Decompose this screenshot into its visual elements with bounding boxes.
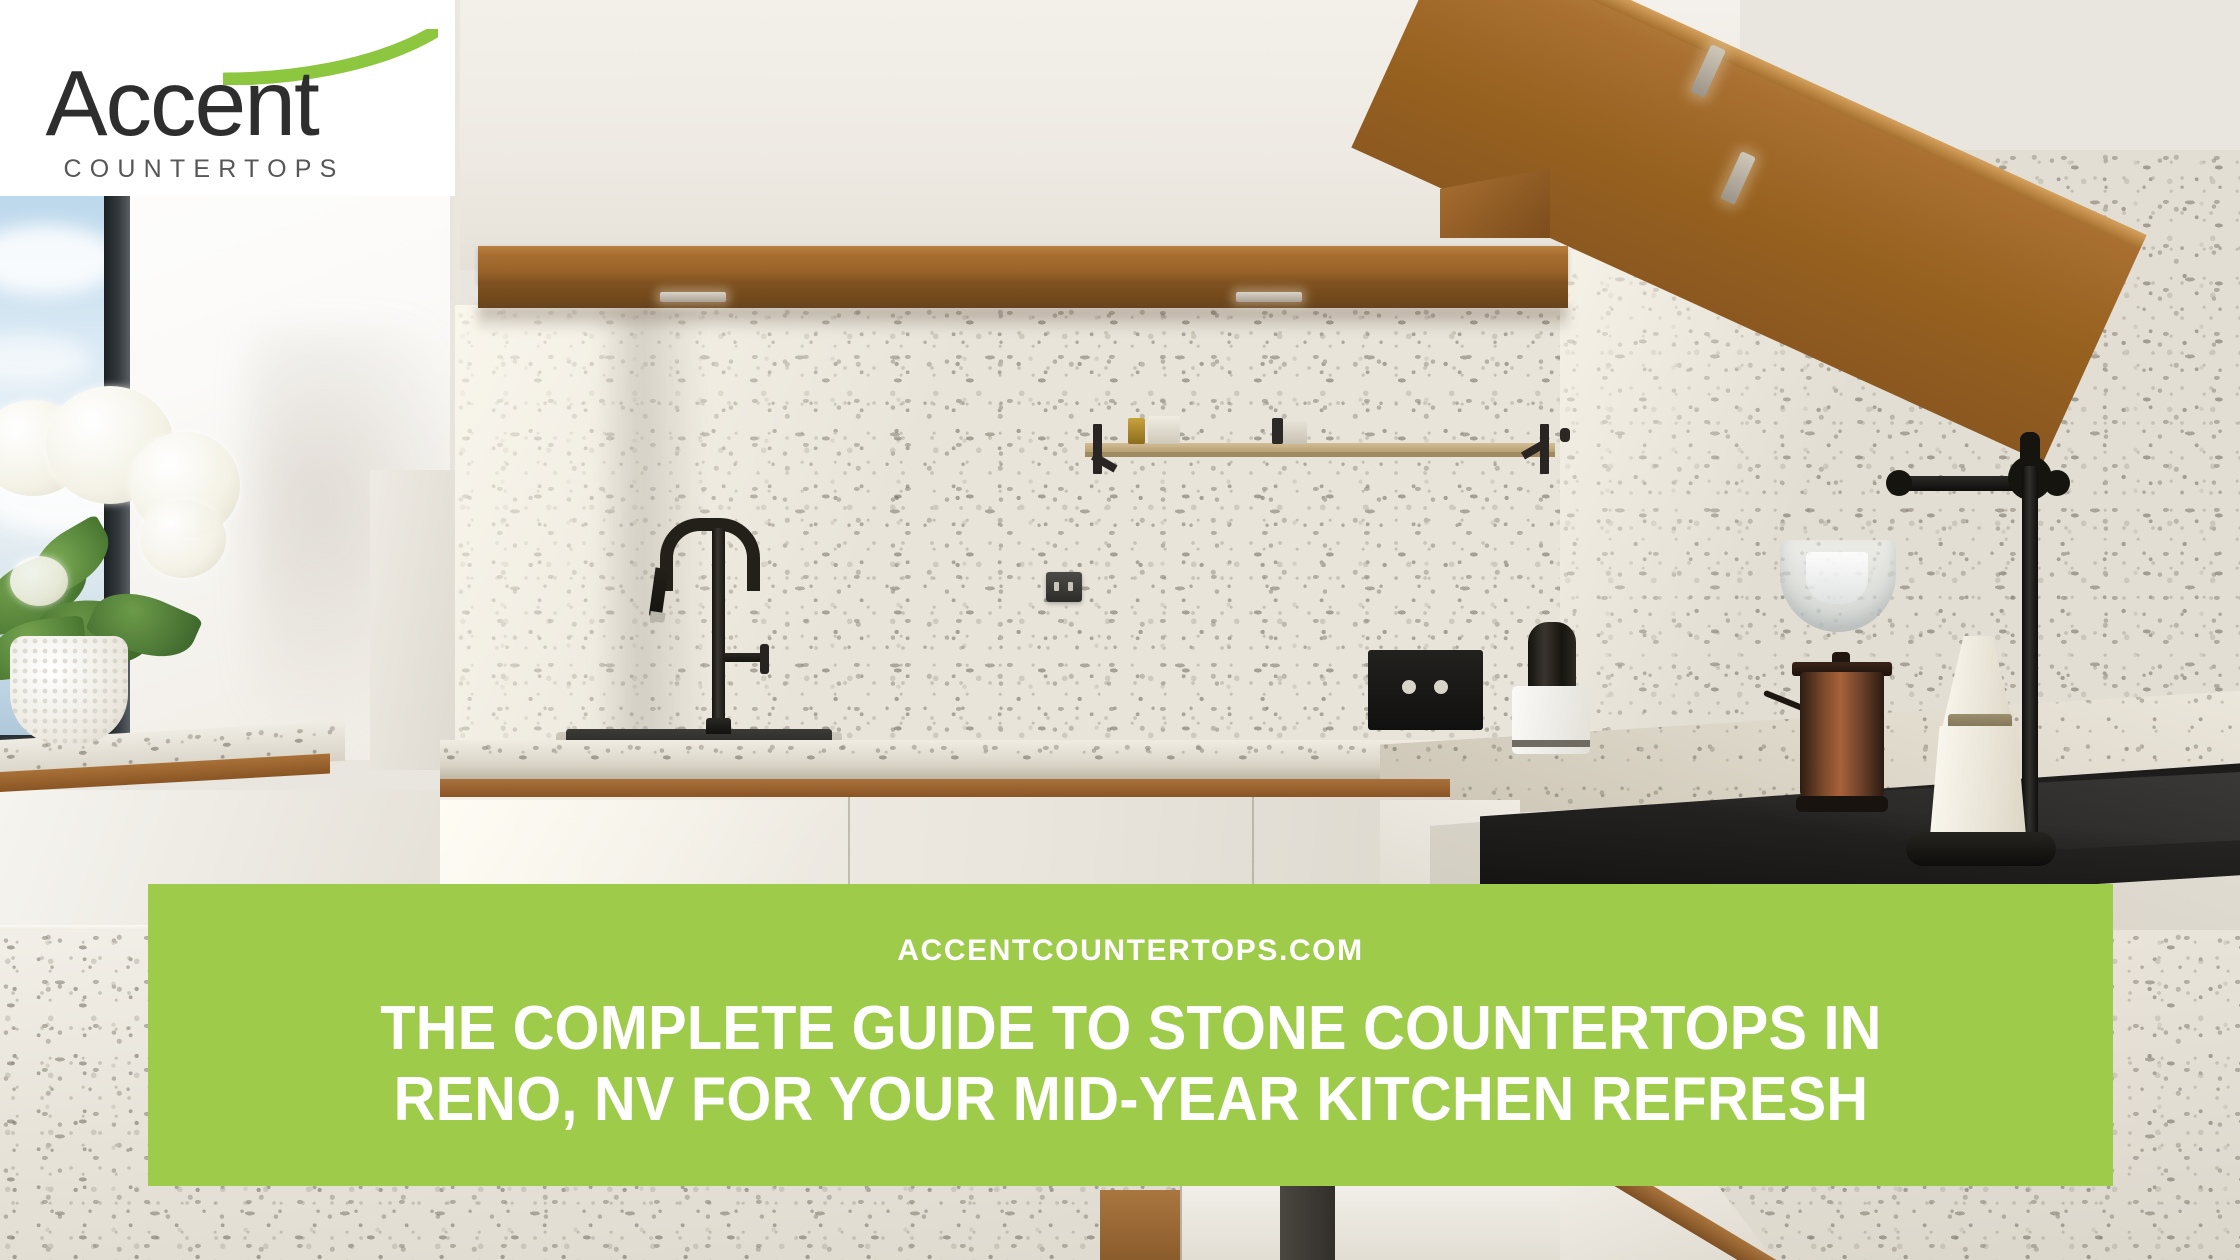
floating-shelf <box>1085 443 1555 452</box>
cabinet-wood-reveal <box>440 779 1450 797</box>
recessed-light-2 <box>1236 292 1302 302</box>
grinder-stand-post <box>2022 466 2038 862</box>
shelf-object-vessel <box>1148 416 1180 444</box>
grinder-stand-foot <box>1906 832 2056 866</box>
recessed-light-1 <box>660 292 726 302</box>
kitchen-faucet-aerator <box>649 611 665 623</box>
kitchen-faucet-arc <box>660 518 760 591</box>
shelf-object-dark <box>1272 418 1283 444</box>
wood-soffit-face <box>478 284 1568 308</box>
banner-website-url[interactable]: ACCENTCOUNTERTOPS.COM <box>897 934 1363 968</box>
hydrangea-bloom-5 <box>10 556 68 606</box>
brand-logo[interactable]: Accent COUNTERTOPS <box>0 0 455 196</box>
wood-soffit <box>478 246 1568 284</box>
logo-tagline: COUNTERTOPS <box>64 155 345 184</box>
title-banner: ACCENTCOUNTERTOPS.COM THE COMPLETE GUIDE… <box>148 884 2113 1186</box>
kitchen-faucet-base <box>706 718 731 734</box>
tall-panel <box>370 470 462 770</box>
banner-headline: THE COMPLETE GUIDE TO STONE COUNTERTOPS … <box>284 994 1977 1135</box>
shelf-object-brass <box>1128 418 1145 444</box>
floating-shelf-edge <box>1085 452 1555 457</box>
hero-graphic: Accent COUNTERTOPS ACCENTCOUNTERTOPS.COM… <box>0 0 2240 1260</box>
copper-pot <box>1800 672 1884 800</box>
black-appliance <box>1368 650 1483 730</box>
shelf-bracket-left <box>1093 424 1102 474</box>
coffee-grinder-body <box>1930 726 2026 836</box>
logo-wordmark: Accent <box>46 57 318 150</box>
countertop-main-edge <box>440 766 1450 779</box>
grinder-stand-knob-left <box>1886 470 1912 496</box>
kitchen-faucet-handle-cap <box>760 644 769 674</box>
ceramic-vase <box>10 636 128 744</box>
copper-pot-base <box>1796 796 1888 812</box>
wood-soffit-shadow <box>478 306 1568 332</box>
utensils <box>1528 622 1576 690</box>
shelf-object-small-dark <box>1560 428 1570 442</box>
kitchen-faucet-neck <box>712 528 725 728</box>
utensil-crock-band <box>1512 740 1590 747</box>
hydrangea-bloom-4 <box>140 500 226 578</box>
wall-outlet <box>1046 572 1082 602</box>
glass-bowl-contents <box>1806 552 1868 604</box>
